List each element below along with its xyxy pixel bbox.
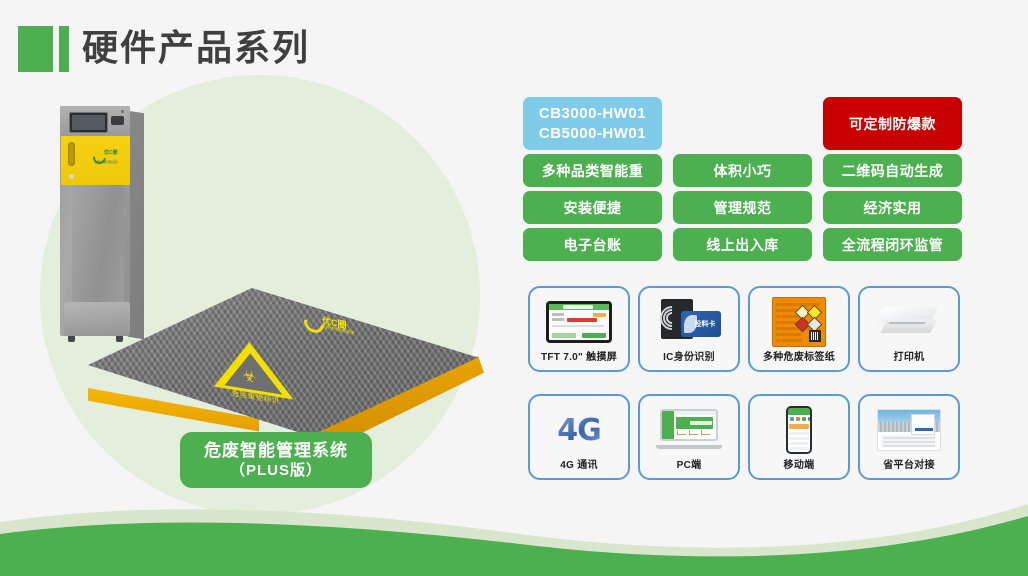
poster-canvas: 硬件产品系列 优C圈	[0, 0, 1028, 576]
kiosk-card-reader-icon	[111, 116, 124, 125]
tag-online-inventory[interactable]: 线上出入库	[673, 228, 812, 261]
product-name-line2: （PLUS版）	[230, 461, 322, 480]
tag-electronic-ledger[interactable]: 电子台账	[523, 228, 662, 261]
card-label-hazard-label-paper: 多种危废标签纸	[763, 348, 835, 363]
card-label-touchscreen: TFT 7.0" 触摸屏	[541, 348, 617, 363]
kiosk-printer-slot-icon	[68, 142, 75, 166]
kiosk-indicator-led-icon	[121, 110, 124, 113]
ic-card-text: 投料卡	[687, 319, 716, 329]
kiosk-foot-left	[68, 336, 75, 342]
tag-compact-size[interactable]: 体积小巧	[673, 154, 812, 187]
feature-tag-grid: CB3000-HW01 CB5000-HW01 可定制防爆款 多种品类智能重 体…	[523, 97, 963, 261]
card-label-province-platform: 省平台对接	[883, 456, 935, 471]
footer-wave-decoration	[0, 486, 1028, 576]
card-ic-identification[interactable]: 投料卡 IC身份识别	[638, 286, 740, 372]
card-hazard-label-paper[interactable]: 多种危废标签纸	[748, 286, 850, 372]
card-mobile-client[interactable]: 移动端	[748, 394, 850, 480]
card-province-platform[interactable]: 省平台对接	[858, 394, 960, 480]
tag-spacer	[673, 97, 812, 150]
brand-logo-text: 优C圈	[104, 150, 118, 156]
brand-logo: 优C圈 危废全程智能监管	[93, 150, 125, 166]
printer-icon	[860, 294, 958, 350]
ic-card-reader-icon: 投料卡	[640, 294, 738, 350]
tag-standard-management[interactable]: 管理规范	[673, 191, 812, 224]
tag-model-number[interactable]: CB3000-HW01 CB5000-HW01	[523, 97, 662, 150]
smartphone-icon	[750, 402, 848, 458]
kiosk-display-surface	[72, 115, 105, 130]
card-label-mobile-client: 移动端	[784, 456, 815, 471]
card-4g-communication[interactable]: 4G 4G 通讯	[528, 394, 630, 480]
card-label-4g-communication: 4G 通讯	[560, 456, 598, 471]
4g-art-text: 4G	[557, 413, 601, 448]
laptop-icon	[640, 402, 738, 458]
card-label-ic-identification: IC身份识别	[663, 348, 715, 363]
card-touchscreen[interactable]: TFT 7.0" 触摸屏	[528, 286, 630, 372]
4g-signal-icon: 4G	[530, 402, 628, 458]
tag-qr-auto-generate[interactable]: 二维码自动生成	[823, 154, 962, 187]
feature-tag-section: CB3000-HW01 CB5000-HW01 可定制防爆款 多种品类智能重 体…	[523, 97, 963, 259]
hazard-label-paper-icon	[750, 294, 848, 350]
card-printer[interactable]: 打印机	[858, 286, 960, 372]
tag-explosion-proof[interactable]: 可定制防爆款	[823, 97, 962, 150]
tag-easy-install[interactable]: 安装便捷	[523, 191, 662, 224]
brand-logo-subtext: 危废全程智能监管	[94, 160, 118, 164]
card-label-pc-client: PC端	[677, 456, 702, 471]
tag-economical[interactable]: 经济实用	[823, 191, 962, 224]
component-card-grid: TFT 7.0" 触摸屏 投料卡 IC身份识别	[528, 286, 968, 480]
kiosk-yellow-panel: 优C圈 危废全程智能监管	[61, 136, 130, 185]
card-label-printer: 打印机	[894, 348, 925, 363]
kiosk-display-icon	[69, 112, 108, 133]
model-number-line1: CB3000-HW01	[539, 104, 646, 124]
tag-multi-category-weighing[interactable]: 多种品类智能重	[523, 154, 662, 187]
kiosk-button-icon	[69, 174, 74, 179]
card-pc-client[interactable]: PC端	[638, 394, 740, 480]
touchscreen-icon	[530, 294, 628, 350]
product-name-badge: 危废智能管理系统 （PLUS版）	[180, 432, 372, 488]
kiosk-head	[60, 106, 130, 136]
component-card-section: TFT 7.0" 触摸屏 投料卡 IC身份识别	[528, 286, 968, 486]
province-platform-icon	[860, 402, 958, 458]
product-name-line1: 危废智能管理系统	[204, 440, 348, 461]
tag-closed-loop-supervision[interactable]: 全流程闭环监管	[823, 228, 962, 261]
model-number-line2: CB5000-HW01	[539, 124, 646, 144]
